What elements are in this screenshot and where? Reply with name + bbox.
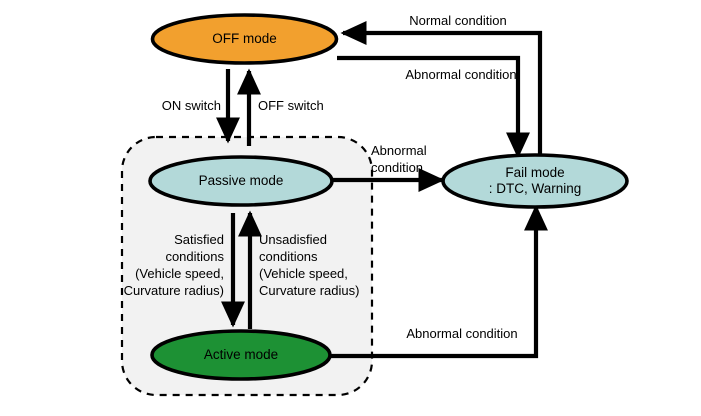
node-passive-mode[interactable] <box>150 157 332 205</box>
edge-fail-to-off-normal <box>343 33 540 160</box>
node-off-mode[interactable] <box>153 15 337 63</box>
node-active-mode[interactable] <box>152 331 330 379</box>
node-fail-mode[interactable] <box>443 155 627 207</box>
edge-off-to-fail-abnormal <box>337 58 518 156</box>
diagram-graphics <box>0 0 701 416</box>
state-diagram-canvas: OFF mode Passive mode Active mode Fail m… <box>0 0 701 416</box>
